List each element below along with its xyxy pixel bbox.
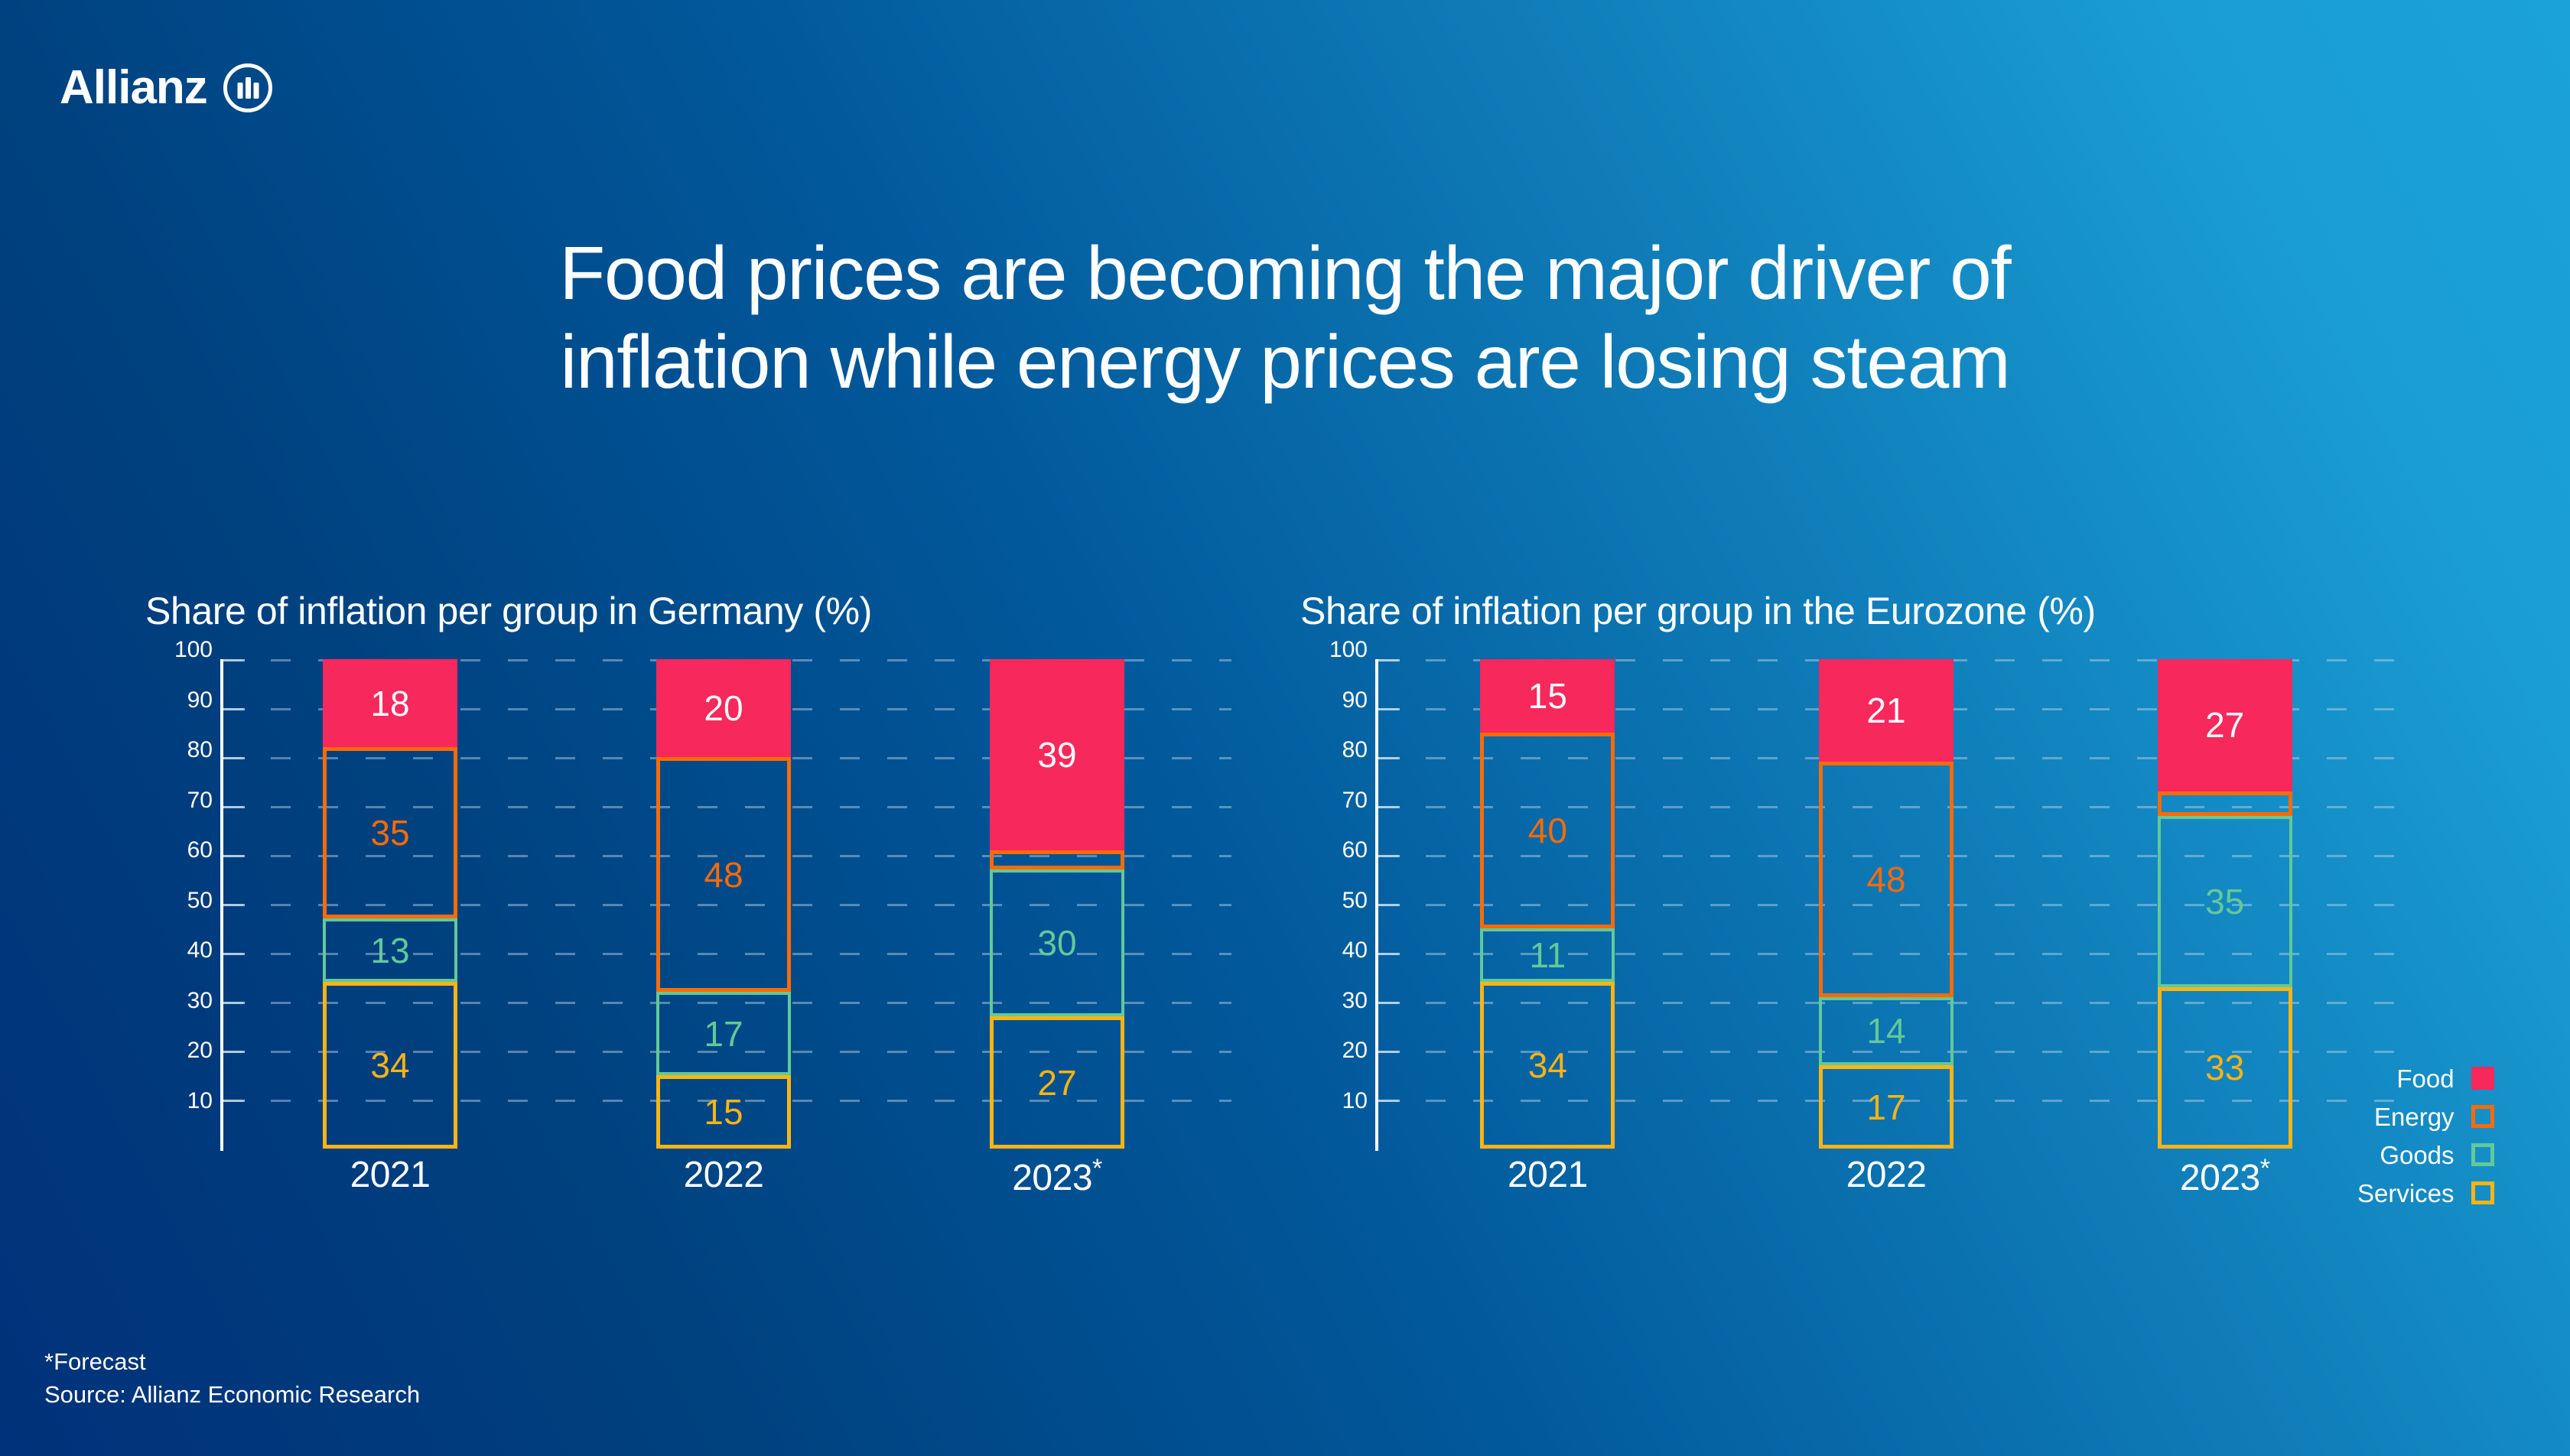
bar-segment-services[interactable]: 34: [323, 982, 457, 1149]
bar-value-label: 40: [1528, 813, 1567, 848]
bar-segment-services[interactable]: 33: [2158, 987, 2292, 1149]
bar-segment-goods[interactable]: 14: [1819, 997, 1954, 1066]
y-tick-100: 100: [174, 639, 213, 661]
headline-line-1: Food prices are becoming the major drive…: [122, 229, 2448, 318]
legend-item-services[interactable]: Services: [2357, 1174, 2494, 1212]
y-tick-60: 60: [1342, 839, 1368, 862]
y-tick-10: 10: [1342, 1090, 1368, 1113]
stacked-bar: 273039: [990, 659, 1124, 1149]
legend-item-goods[interactable]: Goods: [2357, 1136, 2494, 1174]
bar-column-2021[interactable]: 34133518: [223, 659, 557, 1149]
bar-segment-services[interactable]: 27: [990, 1016, 1124, 1149]
stacked-bar: 333527: [2158, 659, 2292, 1149]
bar-segment-energy[interactable]: 35: [323, 747, 457, 918]
y-tick-60: 60: [187, 839, 213, 862]
bar-group-germany: 3413351815174820273039: [223, 659, 1224, 1149]
x-axis-labels-germany: 202120222023*: [223, 1154, 1224, 1199]
y-tick-20: 20: [1342, 1039, 1368, 1062]
bar-value-label: 39: [1037, 737, 1076, 772]
headline-line-2: inflation while energy prices are losing…: [122, 318, 2448, 407]
stacked-bar: 34114015: [1480, 659, 1615, 1149]
y-tick-50: 50: [187, 889, 213, 912]
y-tick-70: 70: [1342, 789, 1368, 812]
bar-value-label: 17: [704, 1016, 743, 1051]
bar-segment-goods[interactable]: 11: [1480, 928, 1615, 982]
legend-label: Energy: [2374, 1104, 2455, 1129]
chart-panel-eurozone: Share of inflation per group in the Euro…: [1300, 589, 2402, 1185]
x-axis-labels-eurozone: 202120222023*: [1378, 1154, 2394, 1199]
bar-value-label: 21: [1866, 693, 1905, 728]
x-tick-2022: 2022: [1717, 1154, 2056, 1199]
legend-label: Food: [2396, 1066, 2454, 1091]
legend-label: Services: [2357, 1181, 2455, 1206]
forecast-asterisk: *: [1092, 1154, 1102, 1183]
legend-item-energy[interactable]: Energy: [2357, 1097, 2494, 1136]
bar-segment-goods[interactable]: 13: [323, 918, 457, 982]
bar-segment-food[interactable]: 18: [323, 659, 457, 747]
chart-legend: FoodEnergyGoodsServices: [2357, 1059, 2494, 1212]
bar-value-label: 17: [1866, 1090, 1905, 1125]
chart-title-eurozone: Share of inflation per group in the Euro…: [1300, 589, 2402, 633]
bar-segment-goods[interactable]: 30: [990, 869, 1124, 1016]
y-tick-40: 40: [1342, 939, 1368, 962]
bar-value-label: 48: [1866, 862, 1905, 897]
legend-swatch-goods-icon: [2471, 1143, 2494, 1166]
y-tick-70: 70: [187, 789, 213, 812]
y-axis-labels-germany: 102030405060708090100: [145, 650, 213, 1151]
bar-segment-food[interactable]: 39: [990, 659, 1124, 850]
brand-wordmark: Allianz: [60, 64, 207, 112]
bar-value-label: 27: [1037, 1065, 1076, 1100]
y-tick-80: 80: [187, 739, 213, 762]
y-axis-labels-eurozone: 102030405060708090100: [1300, 650, 1368, 1151]
bar-segment-energy[interactable]: [2158, 791, 2292, 816]
legend-item-food[interactable]: Food: [2357, 1059, 2494, 1097]
bar-segment-goods[interactable]: 35: [2158, 816, 2292, 987]
bar-value-label: 18: [370, 686, 409, 721]
bar-segment-energy[interactable]: 40: [1480, 733, 1615, 928]
legend-label: Goods: [2380, 1142, 2454, 1168]
bar-segment-goods[interactable]: 17: [656, 992, 791, 1075]
x-tick-2023: 2023*: [890, 1154, 1224, 1199]
stacked-bar: 17144821: [1819, 659, 1954, 1149]
y-tick-80: 80: [1342, 739, 1368, 762]
forecast-note: *Forecast: [44, 1346, 420, 1379]
bar-column-2023[interactable]: 273039: [890, 659, 1224, 1149]
allianz-bars-circle-icon: [223, 63, 273, 113]
bar-value-label: 15: [704, 1094, 743, 1129]
bar-segment-services[interactable]: 15: [656, 1075, 791, 1149]
bar-column-2022[interactable]: 17144821: [1717, 659, 2056, 1149]
bar-segment-food[interactable]: 21: [1819, 659, 1954, 762]
y-tick-30: 30: [1342, 990, 1368, 1012]
bar-segment-food[interactable]: 27: [2158, 659, 2292, 791]
legend-swatch-energy-icon: [2471, 1105, 2494, 1128]
x-tick-2021: 2021: [1378, 1154, 1717, 1199]
bar-column-2022[interactable]: 15174820: [557, 659, 890, 1149]
bar-value-label: 35: [370, 815, 409, 850]
bar-segment-services[interactable]: 17: [1819, 1065, 1954, 1149]
chart-title-germany: Share of inflation per group in Germany …: [145, 589, 1231, 633]
bar-segment-food[interactable]: 20: [656, 659, 791, 757]
source-note: Source: Allianz Economic Research: [44, 1379, 420, 1412]
chart-panel-germany: Share of inflation per group in Germany …: [145, 589, 1231, 1185]
bar-value-label: 15: [1528, 678, 1567, 713]
plot-area-germany: 102030405060708090100 341335181517482027…: [145, 650, 1231, 1185]
legend-swatch-services-icon: [2471, 1181, 2494, 1204]
forecast-asterisk: *: [2260, 1154, 2270, 1183]
x-tick-2021: 2021: [223, 1154, 557, 1199]
y-tick-50: 50: [1342, 889, 1368, 912]
bar-value-label: 13: [370, 933, 409, 968]
bar-value-label: 35: [2205, 884, 2244, 919]
bar-column-2023[interactable]: 333527: [2055, 659, 2394, 1149]
y-tick-90: 90: [1342, 689, 1368, 712]
bar-value-label: 33: [2205, 1050, 2244, 1085]
bar-segment-energy[interactable]: 48: [1819, 762, 1954, 996]
x-tick-2022: 2022: [557, 1154, 890, 1199]
bar-segment-services[interactable]: 34: [1480, 982, 1615, 1149]
bar-value-label: 11: [1529, 938, 1566, 973]
legend-swatch-food-icon: [2471, 1067, 2494, 1090]
page-headline: Food prices are becoming the major drive…: [0, 229, 2570, 406]
bar-segment-energy[interactable]: [990, 850, 1124, 870]
bar-column-2021[interactable]: 34114015: [1378, 659, 1717, 1149]
bar-segment-food[interactable]: 15: [1480, 659, 1615, 733]
bar-value-label: 30: [1037, 925, 1076, 960]
stacked-bar: 34133518: [323, 659, 457, 1149]
x-tick-2023: 2023*: [2055, 1154, 2394, 1199]
y-tick-20: 20: [187, 1039, 213, 1062]
bar-value-label: 20: [704, 691, 743, 726]
stacked-bar: 15174820: [656, 659, 791, 1149]
y-tick-40: 40: [187, 939, 213, 962]
bar-segment-energy[interactable]: 48: [656, 757, 791, 992]
y-tick-30: 30: [187, 990, 213, 1012]
bar-value-label: 27: [2205, 707, 2244, 743]
bar-value-label: 48: [704, 857, 743, 892]
bar-value-label: 14: [1866, 1013, 1905, 1048]
bar-group-eurozone: 3411401517144821333527: [1378, 659, 2394, 1149]
y-tick-100: 100: [1329, 639, 1368, 661]
y-tick-90: 90: [187, 689, 213, 712]
y-tick-10: 10: [187, 1090, 213, 1113]
plot-area-eurozone: 102030405060708090100 341140151714482133…: [1300, 650, 2402, 1185]
bar-value-label: 34: [1528, 1048, 1567, 1083]
footer: *Forecast Source: Allianz Economic Resea…: [44, 1346, 420, 1412]
bar-value-label: 34: [370, 1048, 409, 1083]
allianz-logo: Allianz: [60, 63, 273, 113]
